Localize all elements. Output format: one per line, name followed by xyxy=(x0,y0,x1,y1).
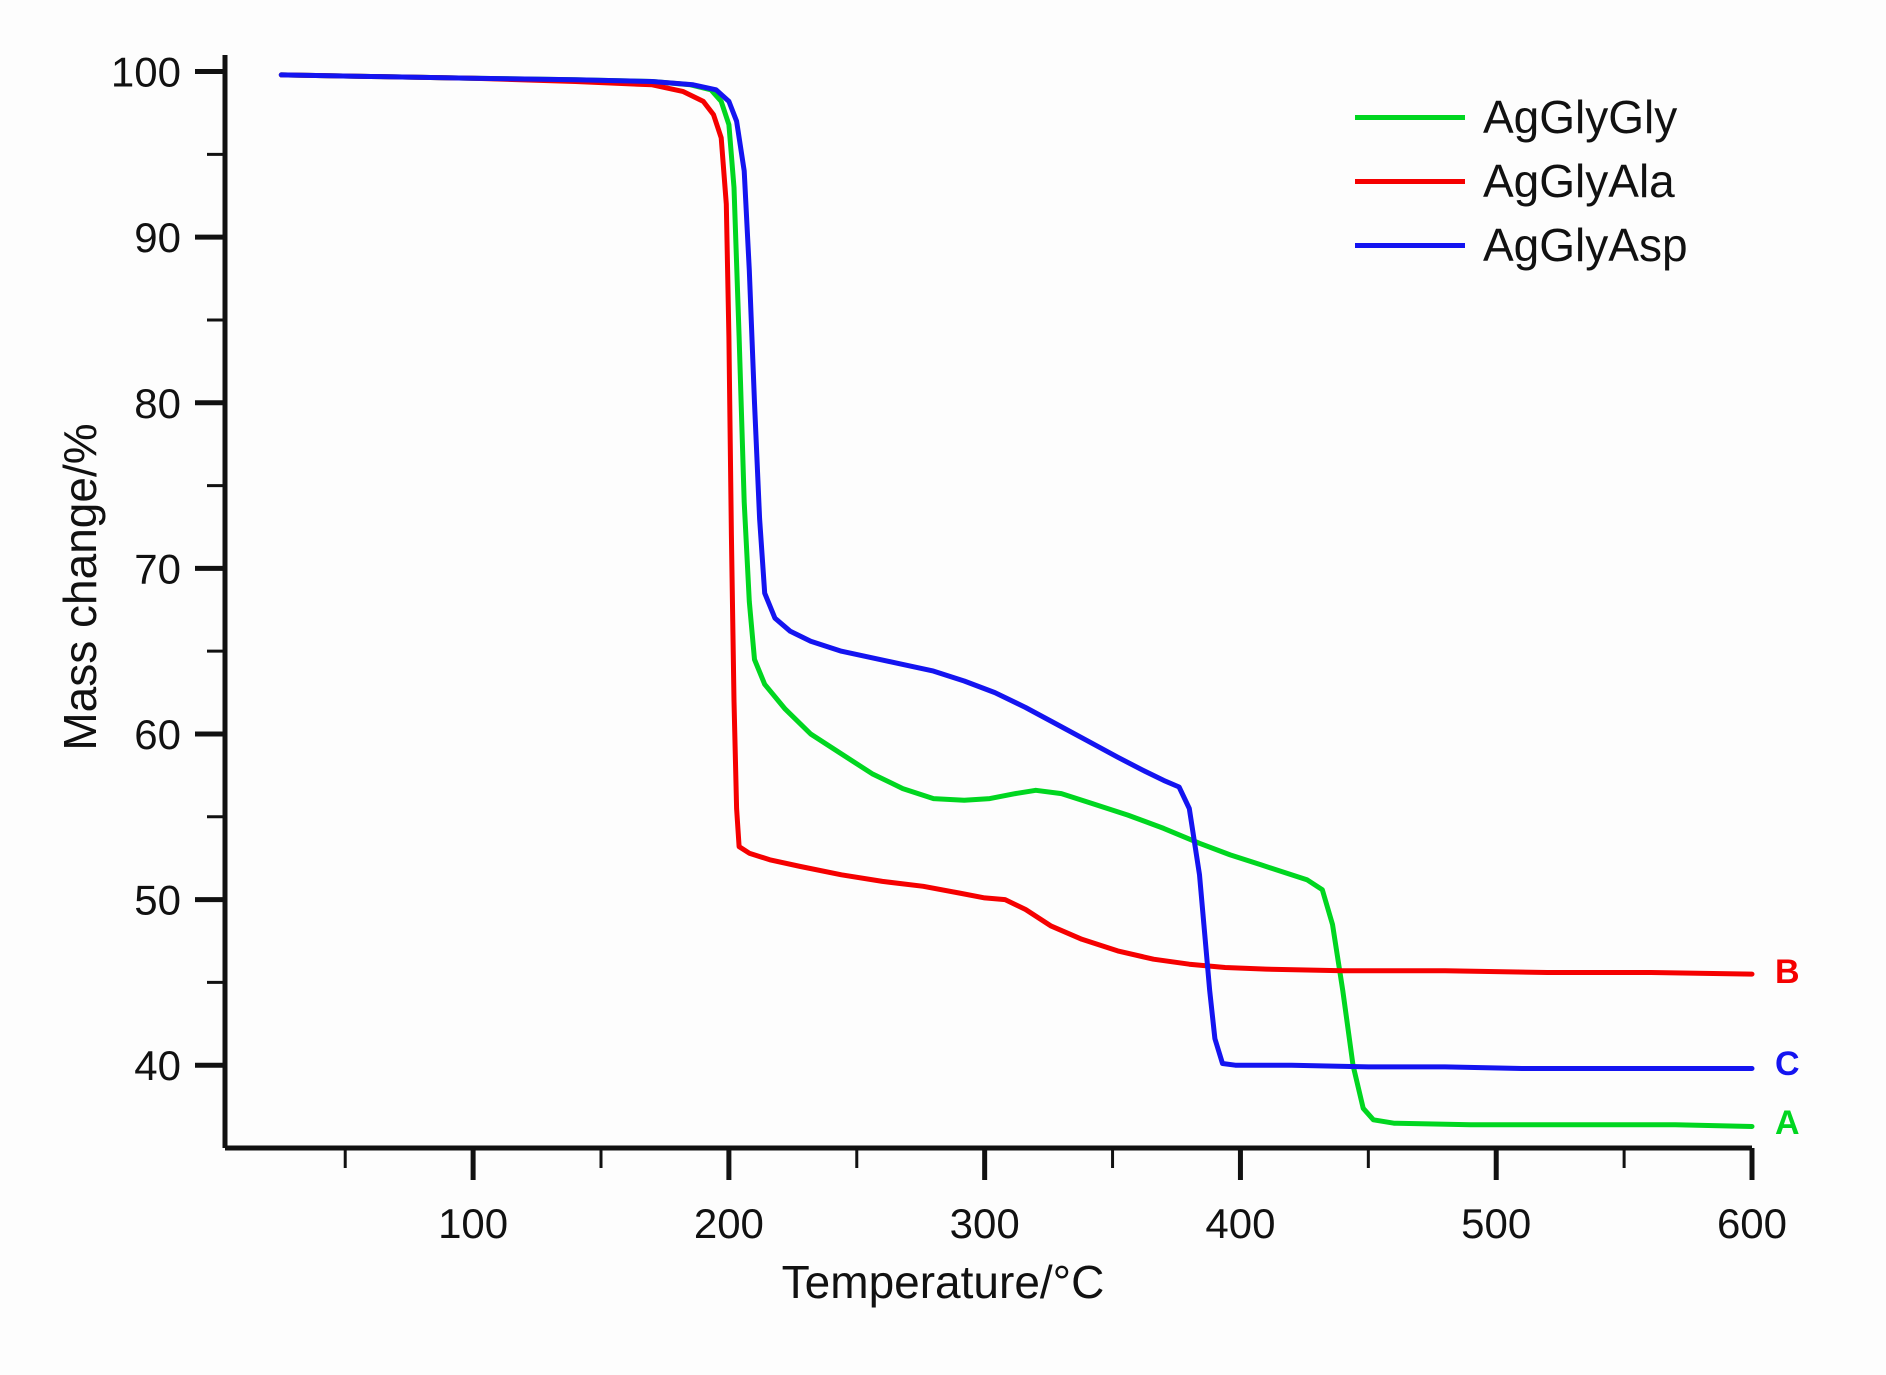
x-tick-label: 100 xyxy=(438,1200,508,1247)
curve-end-label-c: C xyxy=(1775,1047,1800,1081)
legend-label-agglygly: AgGlyGly xyxy=(1483,94,1677,140)
y-tick-label: 70 xyxy=(134,545,181,592)
x-axis-label: Temperature/°C xyxy=(0,1255,1886,1309)
y-tick-label: 50 xyxy=(134,877,181,924)
legend-swatch-agglyala xyxy=(1355,179,1465,184)
legend-item[interactable]: AgGlyAla xyxy=(1355,149,1875,213)
x-tick-label: 500 xyxy=(1461,1200,1531,1247)
legend-swatch-agglygly xyxy=(1355,115,1465,120)
legend-swatch-agglyasp xyxy=(1355,243,1465,248)
legend-label-agglyasp: AgGlyAsp xyxy=(1483,222,1688,268)
x-axis-ticks: 100200300400500600 xyxy=(345,1148,1787,1247)
curve-end-label-a: A xyxy=(1775,1106,1800,1140)
y-tick-label: 90 xyxy=(134,214,181,261)
chart-figure: 100200300400500600 405060708090100 Mass … xyxy=(0,0,1886,1375)
x-tick-label: 200 xyxy=(694,1200,764,1247)
x-tick-label: 300 xyxy=(950,1200,1020,1247)
curve-end-label-b: B xyxy=(1775,955,1800,989)
y-tick-label: 80 xyxy=(134,380,181,427)
x-tick-label: 600 xyxy=(1717,1200,1787,1247)
legend-item[interactable]: AgGlyGly xyxy=(1355,85,1875,149)
y-tick-label: 60 xyxy=(134,711,181,758)
legend-item[interactable]: AgGlyAsp xyxy=(1355,213,1875,277)
y-axis-label: Mass change/% xyxy=(53,327,107,847)
x-tick-label: 400 xyxy=(1205,1200,1275,1247)
y-axis-ticks: 405060708090100 xyxy=(111,49,225,1090)
y-tick-label: 40 xyxy=(134,1042,181,1089)
legend-label-agglyala: AgGlyAla xyxy=(1483,158,1675,204)
chart-legend: AgGlyGly AgGlyAla AgGlyAsp xyxy=(1355,85,1875,277)
y-tick-label: 100 xyxy=(111,49,181,96)
